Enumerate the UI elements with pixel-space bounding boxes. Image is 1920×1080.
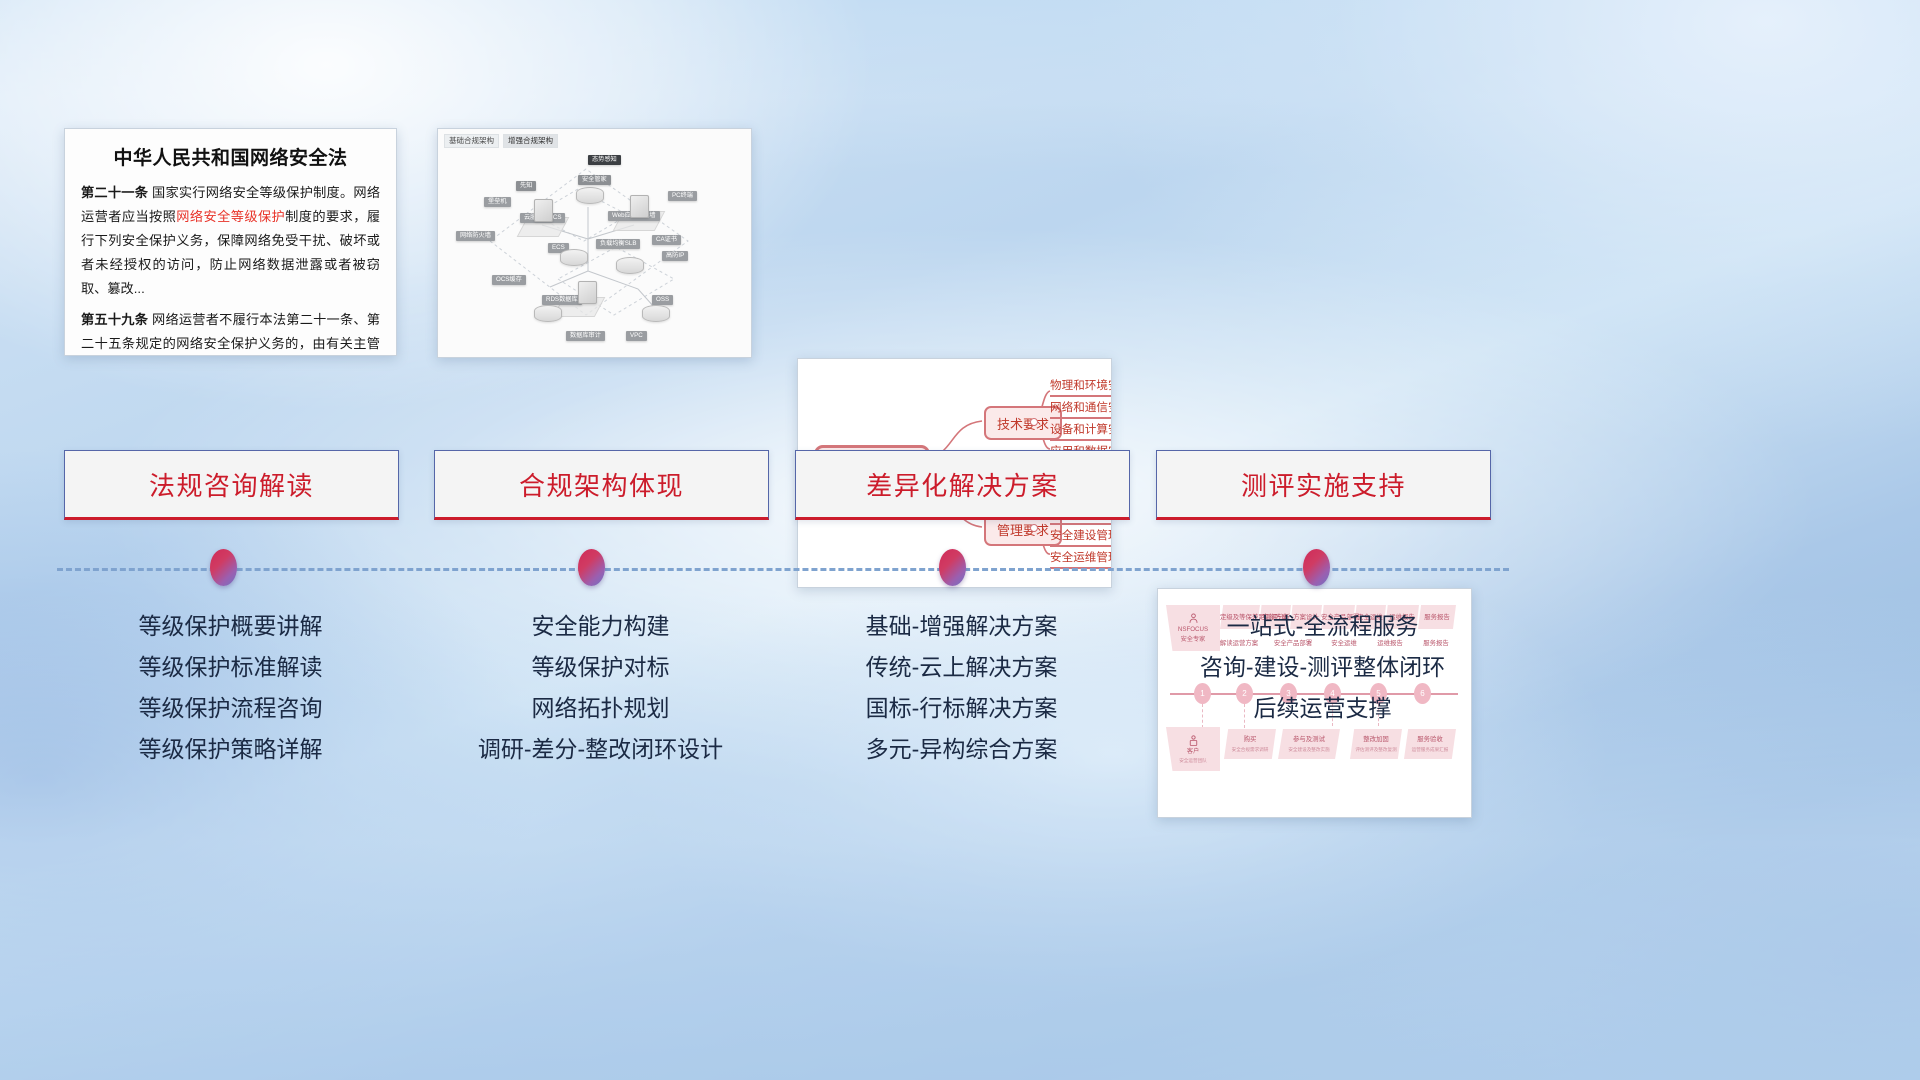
law-title: 中华人民共和国网络安全法 <box>81 143 380 170</box>
nsfocus-customer-badge: 客户 安全运营团队 <box>1166 727 1220 771</box>
arch-server-1 <box>534 199 553 222</box>
list-item[interactable]: 咨询-建设-测评整体闭环 <box>1156 647 1489 688</box>
headline-box-1[interactable]: 法规咨询解读 <box>64 450 399 520</box>
arch-server-2 <box>630 195 649 218</box>
headline-label-2: 合规架构体现 <box>519 466 684 503</box>
column-list-4: 一站式-全流程服务 咨询-建设-测评整体闭环 后续运营支撑 <box>1156 606 1489 729</box>
headline-label-3: 差异化解决方案 <box>866 466 1059 503</box>
list-item[interactable]: 等级保护流程咨询 <box>64 688 397 729</box>
list-item[interactable]: 等级保护对标 <box>434 647 767 688</box>
law-article-59-label: 第五十九条 <box>81 312 148 327</box>
arch-node-rds-database[interactable]: RDS数据库 <box>542 295 582 305</box>
headline-box-2[interactable]: 合规架构体现 <box>434 450 769 520</box>
nsfocus-bottom-sub-2: 安全建设及整改实施 <box>1278 747 1340 754</box>
list-item[interactable]: 安全能力构建 <box>434 606 767 647</box>
arch-node-network-firewall[interactable]: 网络防火墙 <box>456 231 495 241</box>
timeline-marker-4[interactable] <box>1303 549 1330 586</box>
list-item[interactable]: 后续运营支撑 <box>1156 688 1489 729</box>
arch-node-vpc[interactable]: VPC <box>626 331 647 341</box>
list-item[interactable]: 网络拓扑规划 <box>434 688 767 729</box>
mindmap-leaf-device-compute: 设备和计算安全 <box>1050 421 1112 441</box>
arch-node-security-butler[interactable]: 安全管家 <box>578 175 611 185</box>
law-article-59: 第五十九条 网络运营者不履行本法第二十一条、第二十五条规定的网络安全保护义务的，… <box>81 308 380 356</box>
arch-node-ocs-cache[interactable]: OCS缓存 <box>492 275 526 285</box>
arch-node-prescience[interactable]: 先知 <box>516 181 536 191</box>
law-article-21: 第二十一条 国家实行网络安全等级保护制度。网络运营者应当按照网络安全等级保护制度… <box>81 181 380 301</box>
list-item[interactable]: 调研-差分-整改闭环设计 <box>434 729 767 770</box>
list-item[interactable]: 传统-云上解决方案 <box>795 647 1128 688</box>
column-list-1: 等级保护概要讲解 等级保护标准解读 等级保护流程咨询 等级保护策略详解 <box>64 606 397 770</box>
nsfocus-bottom-sub-1: 安全合规需求调研 <box>1224 747 1276 754</box>
list-item[interactable]: 基础-增强解决方案 <box>795 606 1128 647</box>
arch-node-situational-awareness[interactable]: 态势感知 <box>588 155 621 165</box>
headline-label-4: 测评实施支持 <box>1241 466 1406 503</box>
arch-cylinder-1 <box>560 249 588 266</box>
arch-node-slb[interactable]: 负载均衡SLB <box>596 239 640 249</box>
timeline-marker-3[interactable] <box>939 549 966 586</box>
mindmap-branch-management-dot[interactable] <box>1030 524 1038 532</box>
law-article-21-highlight: 网络安全等级保护 <box>176 209 285 224</box>
timeline-marker-1[interactable] <box>210 549 237 586</box>
nsfocus-bottom-sub-4: 运营服务成果汇报 <box>1404 747 1456 754</box>
list-item[interactable]: 一站式-全流程服务 <box>1156 606 1489 647</box>
customer-person-icon <box>1187 734 1200 747</box>
arch-node-bastion-host[interactable]: 堡垒机 <box>484 197 511 207</box>
arch-node-oss[interactable]: OSS <box>652 295 673 305</box>
arch-node-anti-ddos-ip[interactable]: 高防IP <box>662 251 688 261</box>
arch-node-database-audit[interactable]: 数据库审计 <box>566 331 605 341</box>
nsfocus-bottom-label-4: 服务验收 <box>1404 735 1456 745</box>
card-law-text[interactable]: 中华人民共和国网络安全法 第二十一条 国家实行网络安全等级保护制度。网络运营者应… <box>64 128 397 356</box>
arch-node-ca-certificate[interactable]: CA证书 <box>652 235 681 245</box>
headline-box-3[interactable]: 差异化解决方案 <box>795 450 1130 520</box>
arch-cylinder-2 <box>616 257 644 274</box>
column-list-3: 基础-增强解决方案 传统-云上解决方案 国标-行标解决方案 多元-异构综合方案 <box>795 606 1128 770</box>
list-item[interactable]: 国标-行标解决方案 <box>795 688 1128 729</box>
headline-label-1: 法规咨询解读 <box>149 466 314 503</box>
card-cloud-architecture[interactable]: 基础合规架构 增强合规架构 态势感知 先知 安全管家 <box>437 128 752 358</box>
arch-cylinder-3 <box>534 305 562 322</box>
nsfocus-bottom-label-1: 购买 <box>1224 735 1276 745</box>
nsfocus-customer-sub: 安全运营团队 <box>1179 757 1207 764</box>
nsfocus-bottom-label-2: 参与及测试 <box>1278 735 1340 745</box>
nsfocus-bottom-sub-3: 评估测评及整改复测 <box>1350 747 1402 754</box>
headline-box-4[interactable]: 测评实施支持 <box>1156 450 1491 520</box>
column-list-2: 安全能力构建 等级保护对标 网络拓扑规划 调研-差分-整改闭环设计 <box>434 606 767 770</box>
mindmap-leaf-network-comm: 网络和通信安全 <box>1050 399 1112 419</box>
card-row: 中华人民共和国网络安全法 第二十一条 国家实行网络安全等级保护制度。网络运营者应… <box>0 0 1920 690</box>
list-item[interactable]: 等级保护概要讲解 <box>64 606 397 647</box>
arch-server-3 <box>578 281 597 304</box>
arch-cylinder-5 <box>576 187 604 204</box>
mindmap-leaf-operations-mgmt: 安全运维管理 <box>1050 549 1112 569</box>
arch-cylinder-4 <box>642 305 670 322</box>
list-item[interactable]: 等级保护标准解读 <box>64 647 397 688</box>
list-item[interactable]: 多元-异构综合方案 <box>795 729 1128 770</box>
timeline-marker-2[interactable] <box>578 549 605 586</box>
nsfocus-customer-title: 客户 <box>1187 747 1199 757</box>
mindmap-branch-technical-dot[interactable] <box>1030 418 1038 426</box>
mindmap-leaf-construction-mgmt: 安全建设管理 <box>1050 527 1112 547</box>
arch-node-pc-terminal[interactable]: PC终端 <box>668 191 697 201</box>
nsfocus-bottom-label-3: 整改加固 <box>1350 735 1402 745</box>
list-item[interactable]: 等级保护策略详解 <box>64 729 397 770</box>
mindmap-leaf-physical-env: 物理和环境安全 <box>1050 377 1112 397</box>
law-article-21-label: 第二十一条 <box>81 185 148 200</box>
timeline-dashed-line <box>57 568 1509 571</box>
